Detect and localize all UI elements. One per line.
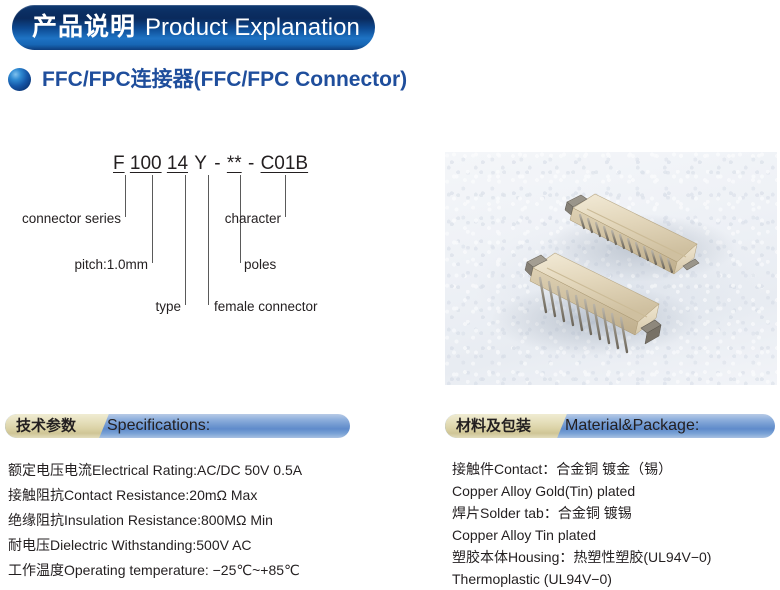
product-photo xyxy=(445,152,777,385)
part-number-segment: ** xyxy=(227,153,242,174)
product-title: FFC/FPC连接器(FFC/FPC Connector) xyxy=(42,69,407,90)
material-section-header: 材料及包装 Material&Package: xyxy=(445,414,775,438)
specifications-label-chinese: 技术参数 xyxy=(16,419,76,434)
specification-line: 耐电压Dielectric Withstanding:500V AC xyxy=(8,533,428,558)
callout-leader-line xyxy=(208,175,209,305)
callout-label: connector series xyxy=(22,212,121,226)
header-title-english: Product Explanation xyxy=(145,16,360,40)
material-line: Thermoplastic (UL94V−0) xyxy=(452,568,777,590)
specifications-label-english: Specifications: xyxy=(107,418,210,434)
material-label-english: Material&Package: xyxy=(565,418,699,434)
material-list: 接触件Contact：合金铜 镀金（锡）Copper Alloy Gold(Ti… xyxy=(452,458,777,590)
specifications-section-header: 技术参数 Specifications: xyxy=(5,414,350,438)
material-line: 焊片Solder tab：合金铜 镀锡 xyxy=(452,502,777,524)
blue-sphere-bullet-icon xyxy=(8,68,31,91)
header-title-chinese: 产品说明 xyxy=(32,15,136,40)
page-header-banner: 产品说明 Product Explanation xyxy=(12,5,375,50)
product-title-row: FFC/FPC连接器(FFC/FPC Connector) xyxy=(8,68,407,91)
material-line: Copper Alloy Gold(Tin) plated xyxy=(452,480,777,502)
callout-label: pitch:1.0mm xyxy=(74,258,148,272)
part-number-code: F 100 14 Y - ** - C01B xyxy=(113,153,308,175)
material-label-chinese: 材料及包装 xyxy=(456,419,531,434)
part-number-segment: - xyxy=(213,153,221,174)
callout-leader-line xyxy=(285,175,286,217)
specifications-list: 额定电压电流Electrical Rating:AC/DC 50V 0.5A接触… xyxy=(8,458,428,583)
callout-label: type xyxy=(155,300,181,314)
part-number-segment: - xyxy=(247,153,255,174)
callout-leader-line xyxy=(185,175,186,305)
material-line: 塑胶本体Housing：热塑性塑胶(UL94V−0) xyxy=(452,546,777,568)
specification-line: 工作温度Operating temperature: −25℃~+85℃ xyxy=(8,558,428,583)
material-line: Copper Alloy Tin plated xyxy=(452,524,777,546)
callout-label: female connector xyxy=(214,300,318,314)
connector-photo-illustration xyxy=(445,152,777,385)
specification-line: 绝缘阻抗Insulation Resistance:800MΩ Min xyxy=(8,508,428,533)
callout-label: poles xyxy=(244,258,276,272)
material-line: 接触件Contact：合金铜 镀金（锡） xyxy=(452,458,777,480)
callout-leader-line xyxy=(152,175,153,263)
part-number-diagram: F 100 14 Y - ** - C01B connector seriesp… xyxy=(0,145,420,335)
part-number-segment: Y xyxy=(193,153,208,174)
callout-leader-line xyxy=(125,175,126,217)
part-number-segment: C01B xyxy=(261,153,309,174)
specification-line: 接触阻抗Contact Resistance:20mΩ Max xyxy=(8,483,428,508)
specification-line: 额定电压电流Electrical Rating:AC/DC 50V 0.5A xyxy=(8,458,428,483)
part-number-segment: F xyxy=(113,153,125,174)
part-number-segment: 100 xyxy=(130,153,162,174)
callout-label: character xyxy=(225,212,281,226)
part-number-segment: 14 xyxy=(167,153,188,174)
